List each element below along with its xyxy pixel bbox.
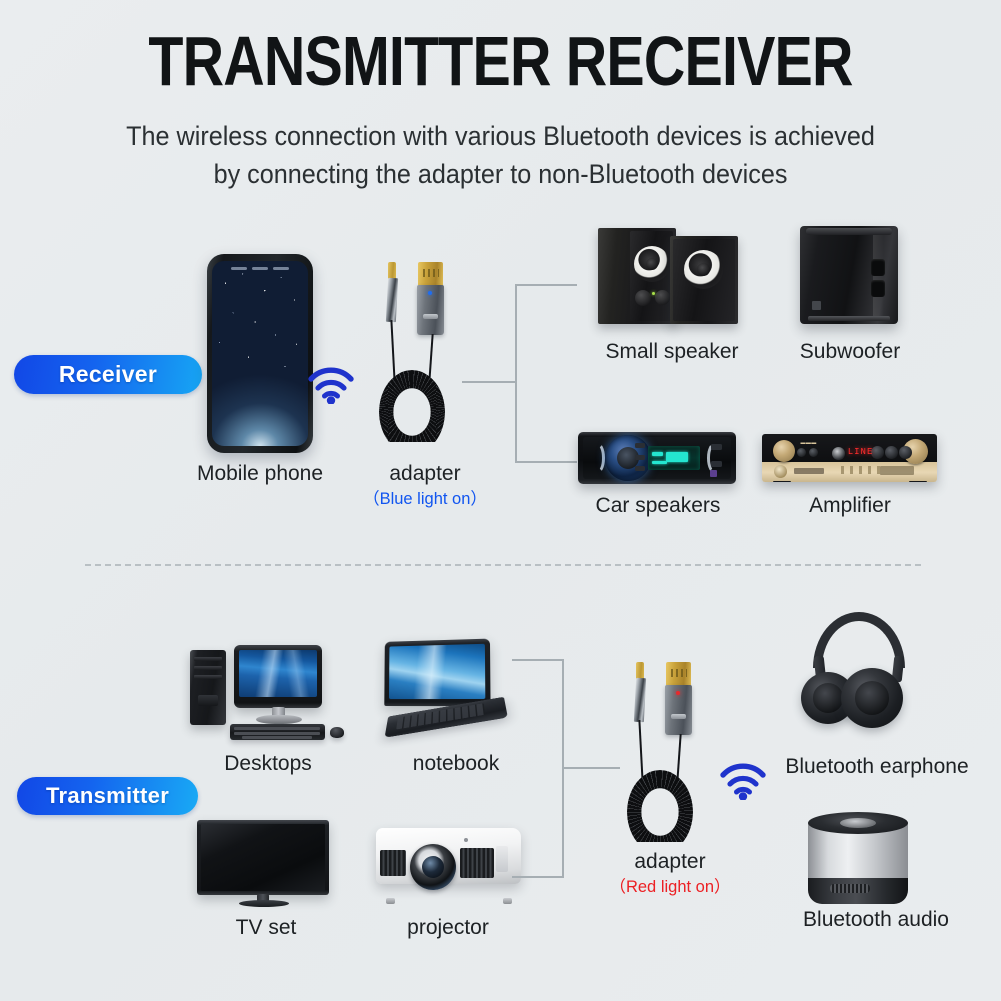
page-title: TRANSMITTER RECEIVER bbox=[90, 26, 911, 96]
caption-adapter-transmitter: adapter bbox=[600, 850, 740, 874]
laptop-icon bbox=[378, 640, 518, 740]
subwoofer-icon bbox=[800, 226, 898, 324]
smartphone-icon bbox=[207, 254, 313, 453]
infographic-canvas: TRANSMITTER RECEIVER The wireless connec… bbox=[0, 0, 1001, 1001]
page-subtitle: The wireless connection with various Blu… bbox=[25, 118, 976, 193]
bookshelf-speaker-icon bbox=[598, 222, 746, 326]
bluetooth-adapter-icon-receiver bbox=[370, 262, 480, 452]
note-blue-light-on: （Blue light on） bbox=[355, 485, 495, 509]
badge-receiver[interactable]: Receiver bbox=[14, 355, 202, 394]
caption-bluetooth-earphone: Bluetooth earphone bbox=[762, 755, 992, 779]
wifi-signal-icon bbox=[306, 362, 356, 404]
phone-status-bar bbox=[212, 264, 308, 273]
caption-adapter-receiver: adapter bbox=[355, 462, 495, 486]
caption-car-speakers: Car speakers bbox=[568, 494, 748, 518]
badge-transmitter[interactable]: Transmitter bbox=[17, 777, 198, 815]
subtitle-line-1: The wireless connection with various Blu… bbox=[25, 118, 976, 156]
caption-desktops: Desktops bbox=[180, 752, 356, 776]
projector-icon bbox=[368, 828, 528, 900]
amplifier-icon: LINE ▬▬▬ bbox=[762, 434, 937, 482]
subtitle-line-2: by connecting the adapter to non-Bluetoo… bbox=[25, 156, 976, 194]
caption-notebook: notebook bbox=[376, 752, 536, 776]
headphones-icon bbox=[795, 612, 923, 732]
caption-small-speaker: Small speaker bbox=[582, 340, 762, 364]
amp-led-text: LINE bbox=[848, 447, 874, 457]
section-divider bbox=[85, 564, 921, 566]
caption-tv-set: TV set bbox=[186, 916, 346, 940]
caption-projector: projector bbox=[366, 916, 530, 940]
car-stereo-icon bbox=[578, 432, 736, 484]
bluetooth-speaker-icon bbox=[808, 812, 908, 907]
note-red-light-on: （Red light on） bbox=[600, 873, 740, 897]
connector-bracket-receiver bbox=[515, 284, 577, 463]
bluetooth-adapter-icon-transmitter bbox=[618, 662, 728, 852]
amp-brand-mark: ▬▬▬ bbox=[801, 440, 817, 446]
wifi-signal-icon bbox=[718, 758, 768, 800]
adapter-led-indicator bbox=[676, 691, 680, 695]
coiled-cable bbox=[379, 370, 445, 442]
caption-bluetooth-audio: Bluetooth audio bbox=[768, 908, 984, 932]
coiled-cable bbox=[627, 770, 693, 842]
caption-amplifier: Amplifier bbox=[762, 494, 938, 518]
desktop-computer-icon bbox=[190, 645, 345, 740]
connector-bracket-transmitter bbox=[562, 659, 564, 878]
caption-subwoofer: Subwoofer bbox=[762, 340, 938, 364]
caption-mobile-phone: Mobile phone bbox=[160, 462, 360, 486]
adapter-led-indicator bbox=[428, 291, 432, 295]
television-icon bbox=[197, 820, 335, 906]
